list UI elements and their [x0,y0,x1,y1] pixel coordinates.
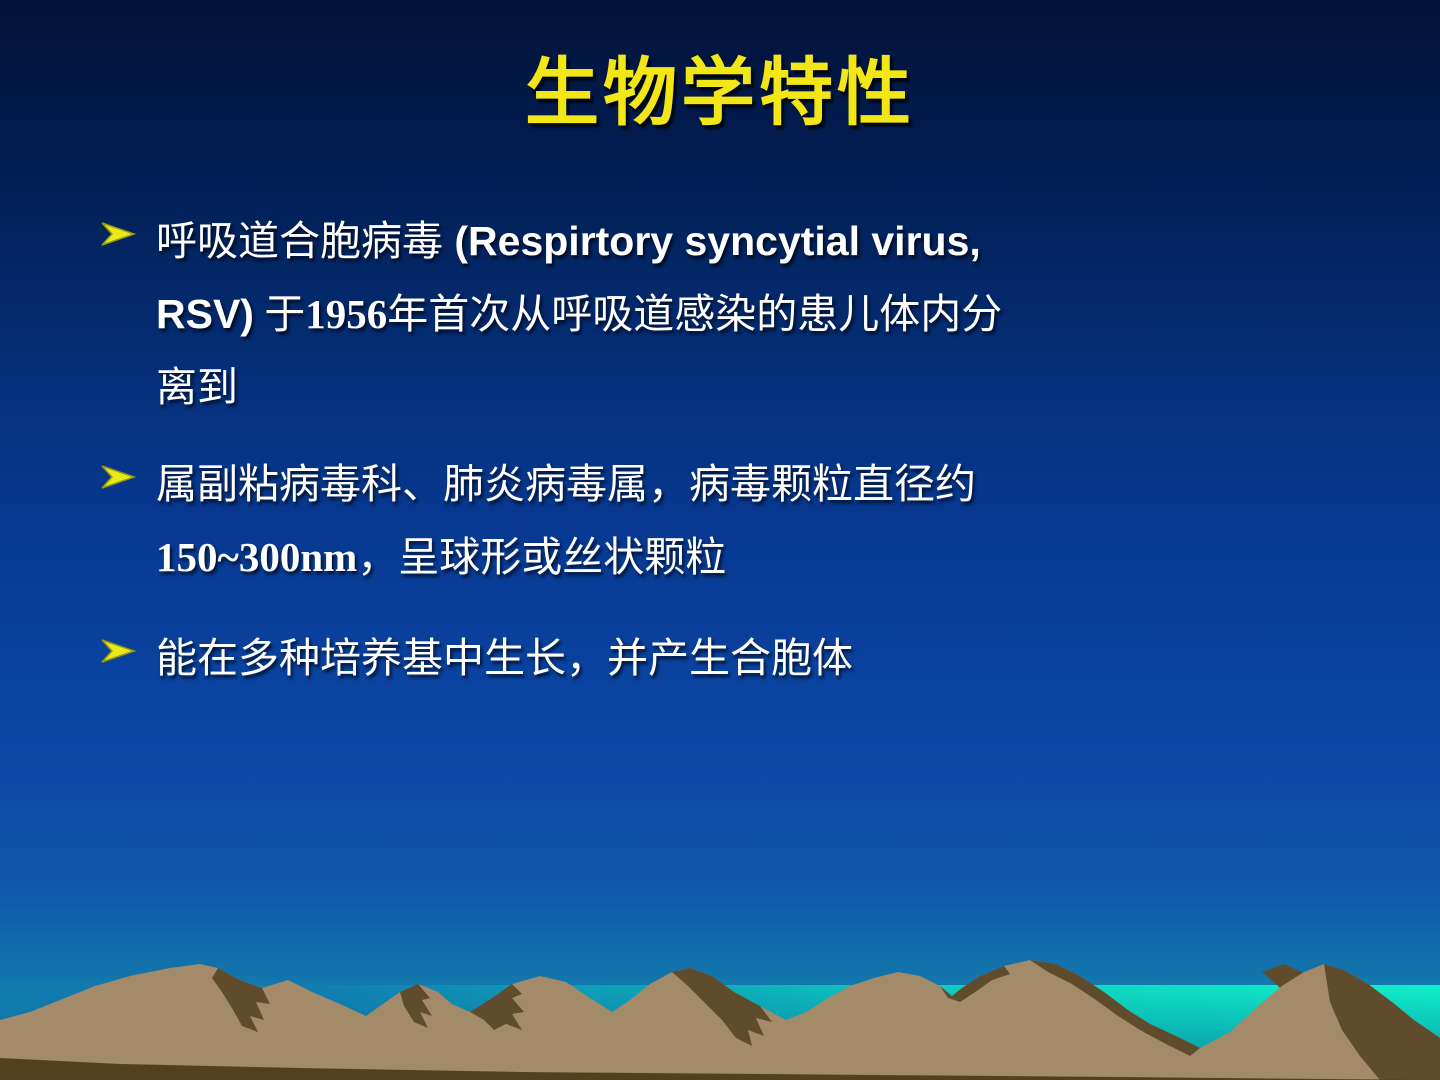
chevron-arrow-bullet-icon [100,448,156,492]
bullet-text-2: 属副粘病毒科、肺炎病毒属，病毒颗粒直径约 150~300nm，呈球形或丝状颗粒 [156,448,1370,594]
mountain-silhouette-graphic [0,880,1440,1080]
chevron-arrow-bullet-icon [100,622,156,666]
bullet-1-line-2: RSV) 于1956年首次从呼吸道感染的患儿体内分 [156,278,1370,351]
text-run: 离到 [156,364,238,410]
text-run: 于 [254,291,305,337]
chevron-arrow-bullet-icon [100,205,156,249]
slide-title: 生物学特性 [0,56,1440,130]
bullet-text-1: 呼吸道合胞病毒 (Respirtory syncytial virus, RSV… [156,205,1370,424]
slide-body: 呼吸道合胞病毒 (Respirtory syncytial virus, RSV… [100,205,1370,695]
bullet-item-1: 呼吸道合胞病毒 (Respirtory syncytial virus, RSV… [100,205,1370,424]
text-run: (Respirtory syncytial virus, [443,218,981,264]
bullet-item-3: 能在多种培养基中生长，并产生合胞体 [100,622,1370,695]
bullet-item-2: 属副粘病毒科、肺炎病毒属，病毒颗粒直径约 150~300nm，呈球形或丝状颗粒 [100,448,1370,594]
bullet-text-3: 能在多种培养基中生长，并产生合胞体 [156,622,1370,695]
text-run: ，呈球形或丝状颗粒 [357,534,726,580]
presentation-slide: 生物学特性 呼吸道合胞病毒 (Respirtory syncytial viru… [0,0,1440,1080]
text-run: 1956 [305,291,387,337]
bullet-1-line-1: 呼吸道合胞病毒 (Respirtory syncytial virus, [156,205,1370,278]
bullet-3-line-1: 能在多种培养基中生长，并产生合胞体 [156,622,1370,695]
text-run: 能在多种培养基中生长，并产生合胞体 [156,635,853,681]
bullet-2-line-1: 属副粘病毒科、肺炎病毒属，病毒颗粒直径约 [156,448,1370,521]
text-run: 呼吸道合胞病毒 [156,218,443,264]
text-run: 年首次从呼吸道感染的患儿体内分 [387,291,1002,337]
text-run: RSV) [156,291,254,337]
text-run: 属副粘病毒科、肺炎病毒属，病毒颗粒直径约 [156,461,976,507]
bullet-2-line-2: 150~300nm，呈球形或丝状颗粒 [156,521,1370,594]
bullet-1-line-3: 离到 [156,351,1370,424]
text-run: 150~300nm [156,534,357,580]
